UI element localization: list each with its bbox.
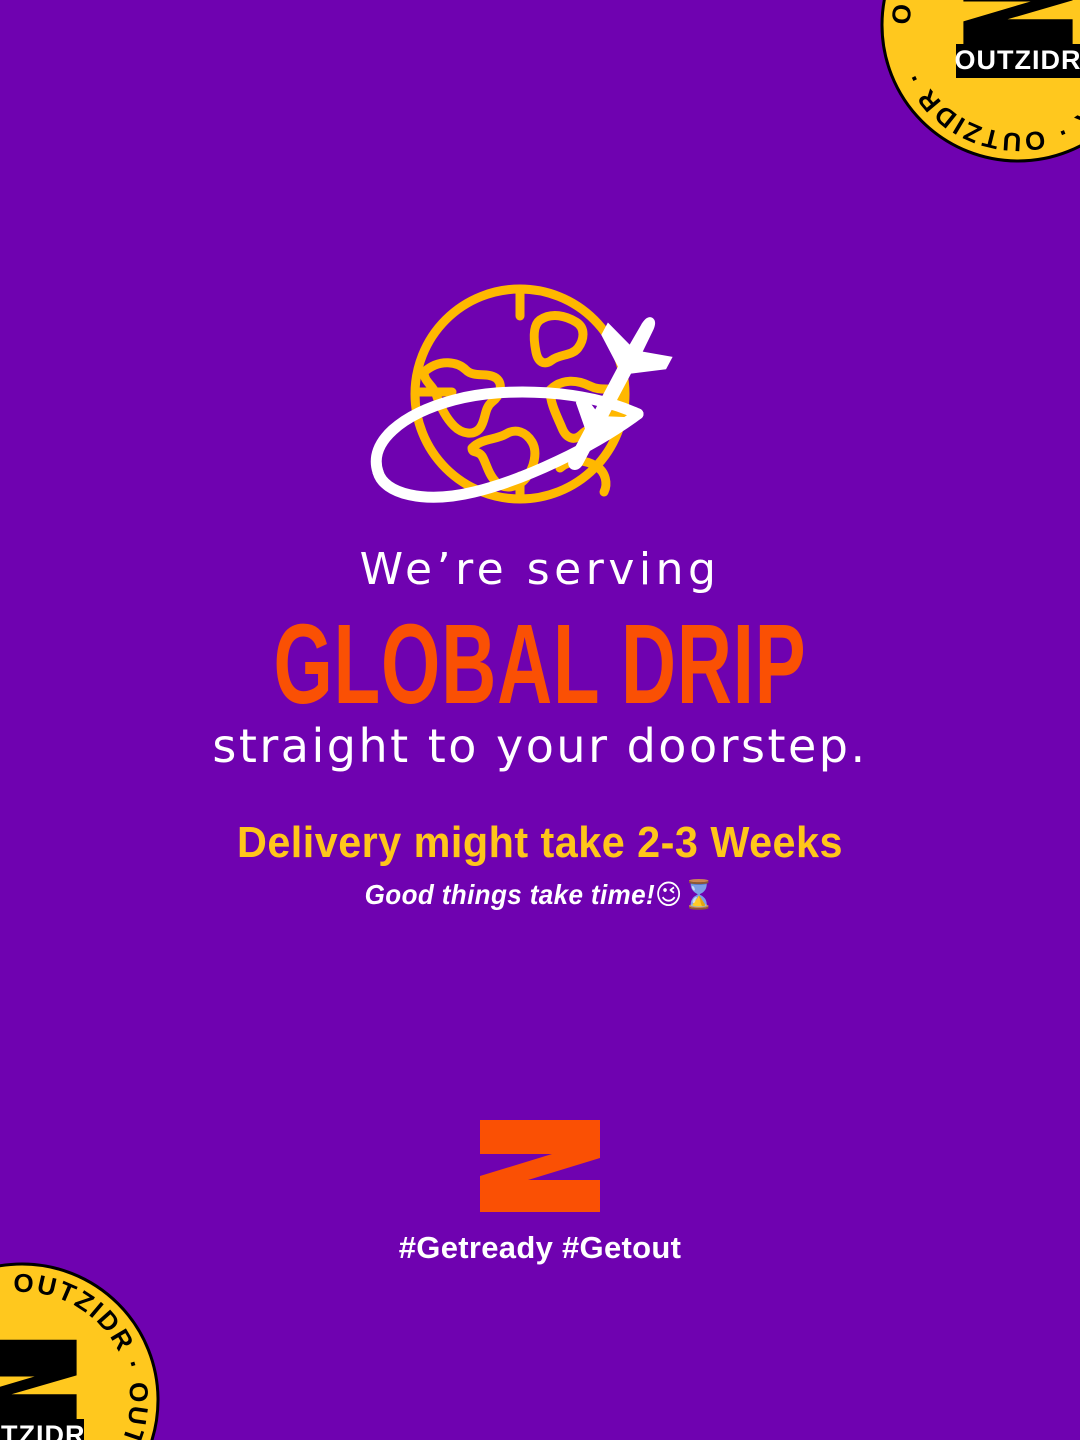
poster-canvas: OUTZIDR · OUTZIDR · OUTZIDR · OUTZIDR · … [0,0,1080,1440]
page-title: GLOBAL DRIP [97,598,983,726]
headline-post-text: straight to your doorstep. [0,723,1080,769]
badge-wordmark-text: OUTZIDR [955,45,1080,75]
delivery-headline-text: Delivery might take 2-3 Weeks [32,820,1047,866]
badge-wordmark-text: OUTZIDR [0,1420,85,1440]
outzidr-z-logo [478,1118,602,1214]
delivery-subline-text: Good things take time! [365,879,655,910]
outzidr-badge-bottom-left: OUTZIDR · OUTZIDR · OUTZIDR · OUTZIDR · … [0,1260,162,1440]
footer-brand-block: #Getready #Getout [0,1118,1080,1266]
badge-wordmark: OUTZIDR [955,44,1080,78]
headline-pre-text: We’re serving [0,548,1080,592]
delivery-subline: Good things take time!😉⌛ [38,880,1042,911]
delivery-notice-block: Delivery might take 2-3 Weeks Good thing… [0,820,1080,911]
hourglass-emoji: ⌛ [683,878,716,911]
badge-wordmark: OUTZIDR [0,1419,85,1440]
globe-with-airplane-icon [354,272,726,522]
outzidr-badge-top-right: OUTZIDR · OUTZIDR · OUTZIDR · OUTZIDR · … [878,0,1080,165]
brand-tagline: #Getready #Getout [0,1230,1080,1266]
wink-face-emoji: 😉 [655,878,683,911]
headline-block: We’re serving GLOBAL DRIP straight to yo… [0,548,1080,769]
